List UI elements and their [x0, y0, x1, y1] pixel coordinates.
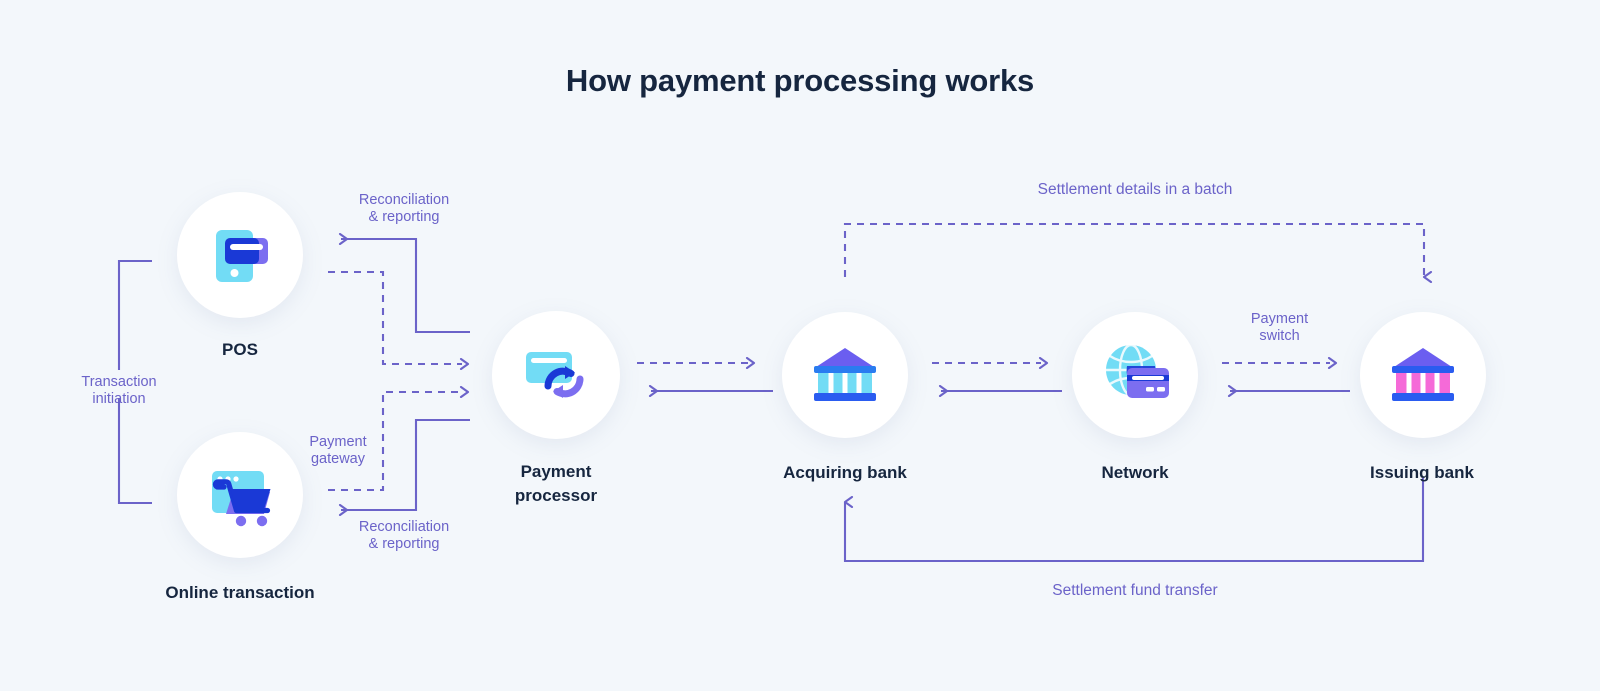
- flow-label-settlement-fund-transfer: Settlement fund transfer: [960, 582, 1310, 599]
- bank-pink-icon: [1386, 342, 1460, 408]
- wire-gateway-pos: [328, 272, 462, 364]
- globe-card-icon: [1097, 340, 1173, 410]
- flow-label-transaction-initiation: Transaction initiation: [48, 374, 190, 408]
- pos-terminal-icon: [204, 219, 276, 291]
- online-cart-icon: [202, 459, 278, 531]
- node-label-pos: POS: [140, 338, 340, 362]
- node-label-acquiring-bank: Acquiring bank: [745, 461, 945, 485]
- node-label-online-transaction: Online transaction: [130, 581, 350, 605]
- node-label-issuing-bank: Issuing bank: [1322, 461, 1522, 485]
- node-label-payment-processor: Payment processor: [456, 460, 656, 508]
- flow-label-reconciliation-top: Reconciliation & reporting: [329, 192, 479, 226]
- page-title: How payment processing works: [0, 63, 1600, 99]
- wire-settlement-fund: [845, 478, 1423, 561]
- payment-processor-bubble: [492, 311, 620, 439]
- acquiring-bank-bubble: [782, 312, 908, 438]
- wire-reconciliation-top: [341, 239, 470, 332]
- flow-label-settlement-details: Settlement details in a batch: [960, 181, 1310, 198]
- bank-cyan-icon: [808, 342, 882, 408]
- pos-bubble: [177, 192, 303, 318]
- wire-settlement-details: [845, 224, 1424, 277]
- flow-label-payment-switch: Payment switch: [1222, 311, 1337, 345]
- network-bubble: [1072, 312, 1198, 438]
- flow-label-reconciliation-bottom: Reconciliation & reporting: [329, 519, 479, 553]
- diagram-canvas: How payment processing works: [0, 0, 1600, 691]
- flow-label-payment-gateway: Payment gateway: [281, 434, 395, 468]
- issuing-bank-bubble: [1360, 312, 1486, 438]
- payment-processor-icon: [518, 338, 594, 412]
- node-label-network: Network: [1035, 461, 1235, 485]
